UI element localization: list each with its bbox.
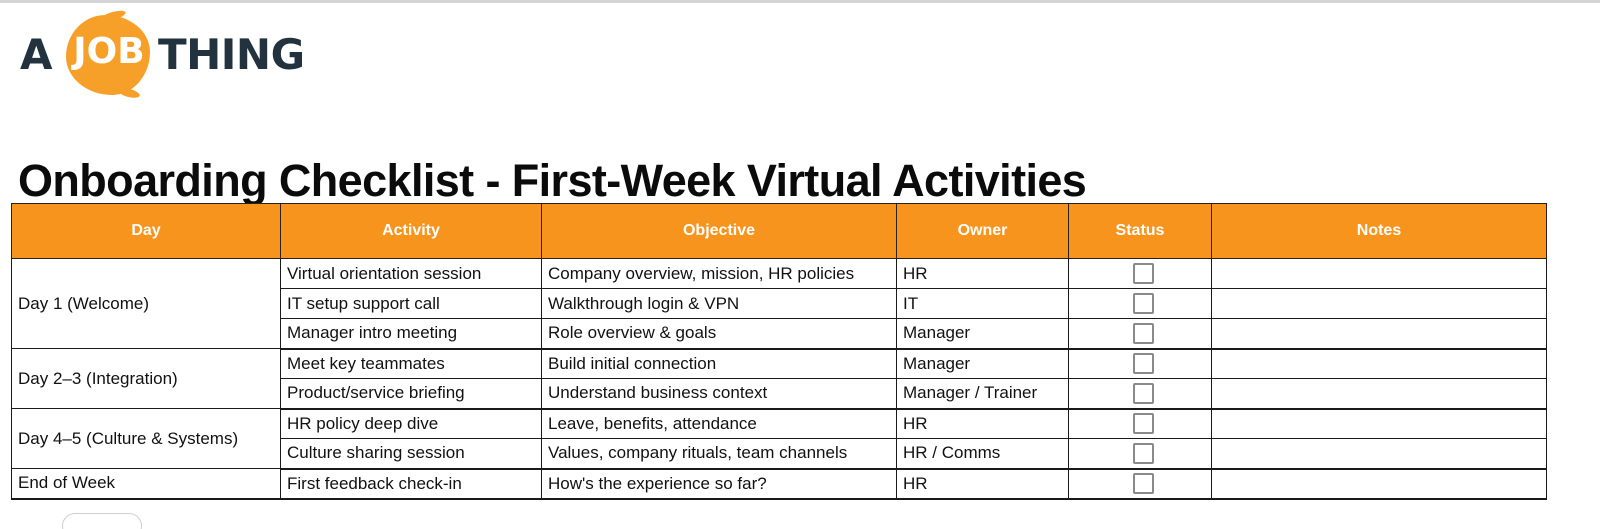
cell-notes[interactable] [1212, 409, 1547, 439]
logo-accent-stroke-bottom-icon [117, 86, 140, 99]
table-row: Day 4–5 (Culture & Systems)HR policy dee… [12, 409, 1547, 439]
cell-activity: Product/service briefing [281, 379, 542, 409]
cell-activity: Culture sharing session [281, 439, 542, 469]
cell-activity: Meet key teammates [281, 349, 542, 379]
table-body: Day 1 (Welcome)Virtual orientation sessi… [12, 259, 1547, 499]
cell-notes[interactable] [1212, 259, 1547, 289]
status-checkbox[interactable] [1133, 383, 1154, 404]
logo-letter-a: A [20, 30, 52, 79]
status-checkbox[interactable] [1133, 263, 1154, 284]
cell-objective: How's the experience so far? [542, 469, 897, 499]
cell-objective: Leave, benefits, attendance [542, 409, 897, 439]
table-row: Day 1 (Welcome)Virtual orientation sessi… [12, 259, 1547, 289]
cell-status [1069, 319, 1212, 349]
cell-status [1069, 379, 1212, 409]
cell-owner: Manager / Trainer [897, 379, 1069, 409]
cell-activity: Virtual orientation session [281, 259, 542, 289]
page-title: Onboarding Checklist - First-Week Virtua… [18, 155, 1086, 207]
cell-notes[interactable] [1212, 319, 1547, 349]
bottom-pill-button[interactable] [62, 513, 142, 529]
cell-owner: Manager [897, 349, 1069, 379]
cell-objective: Understand business context [542, 379, 897, 409]
column-header-status: Status [1069, 204, 1212, 259]
cell-status [1069, 409, 1212, 439]
cell-status [1069, 259, 1212, 289]
column-header-day: Day [12, 204, 281, 259]
top-divider [0, 0, 1600, 3]
status-checkbox[interactable] [1133, 323, 1154, 344]
column-header-activity: Activity [281, 204, 542, 259]
cell-status [1069, 289, 1212, 319]
cell-owner: IT [897, 289, 1069, 319]
cell-objective: Company overview, mission, HR policies [542, 259, 897, 289]
cell-day: Day 2–3 (Integration) [12, 349, 281, 409]
table-row: End of WeekFirst feedback check-inHow's … [12, 469, 1547, 499]
cell-owner: HR [897, 469, 1069, 499]
cell-notes[interactable] [1212, 439, 1547, 469]
cell-owner: HR [897, 409, 1069, 439]
status-checkbox[interactable] [1133, 443, 1154, 464]
cell-status [1069, 439, 1212, 469]
cell-owner: HR [897, 259, 1069, 289]
cell-activity: IT setup support call [281, 289, 542, 319]
cell-objective: Values, company rituals, team channels [542, 439, 897, 469]
brand-logo: A JOB THING [18, 12, 288, 94]
cell-status [1069, 349, 1212, 379]
column-header-owner: Owner [897, 204, 1069, 259]
column-header-objective: Objective [542, 204, 897, 259]
cell-day: Day 4–5 (Culture & Systems) [12, 409, 281, 469]
cell-notes[interactable] [1212, 379, 1547, 409]
logo-word-thing: THING [158, 30, 305, 79]
cell-notes[interactable] [1212, 469, 1547, 499]
status-checkbox[interactable] [1133, 473, 1154, 494]
status-checkbox[interactable] [1133, 413, 1154, 434]
cell-notes[interactable] [1212, 289, 1547, 319]
cell-owner: HR / Comms [897, 439, 1069, 469]
cell-activity: Manager intro meeting [281, 319, 542, 349]
status-checkbox[interactable] [1133, 353, 1154, 374]
cell-owner: Manager [897, 319, 1069, 349]
table-header-row: Day Activity Objective Owner Status Note… [12, 204, 1547, 259]
cell-objective: Build initial connection [542, 349, 897, 379]
onboarding-checklist-table: Day Activity Objective Owner Status Note… [11, 203, 1547, 500]
cell-notes[interactable] [1212, 349, 1547, 379]
status-checkbox[interactable] [1133, 293, 1154, 314]
table-row: Day 2–3 (Integration)Meet key teammatesB… [12, 349, 1547, 379]
cell-status [1069, 469, 1212, 499]
document-page: A JOB THING Onboarding Checklist - First… [0, 0, 1600, 529]
cell-objective: Role overview & goals [542, 319, 897, 349]
column-header-notes: Notes [1212, 204, 1547, 259]
cell-objective: Walkthrough login & VPN [542, 289, 897, 319]
cell-activity: HR policy deep dive [281, 409, 542, 439]
cell-day: Day 1 (Welcome) [12, 259, 281, 349]
cell-day: End of Week [12, 469, 281, 499]
logo-word-job: JOB [73, 31, 145, 72]
cell-activity: First feedback check-in [281, 469, 542, 499]
